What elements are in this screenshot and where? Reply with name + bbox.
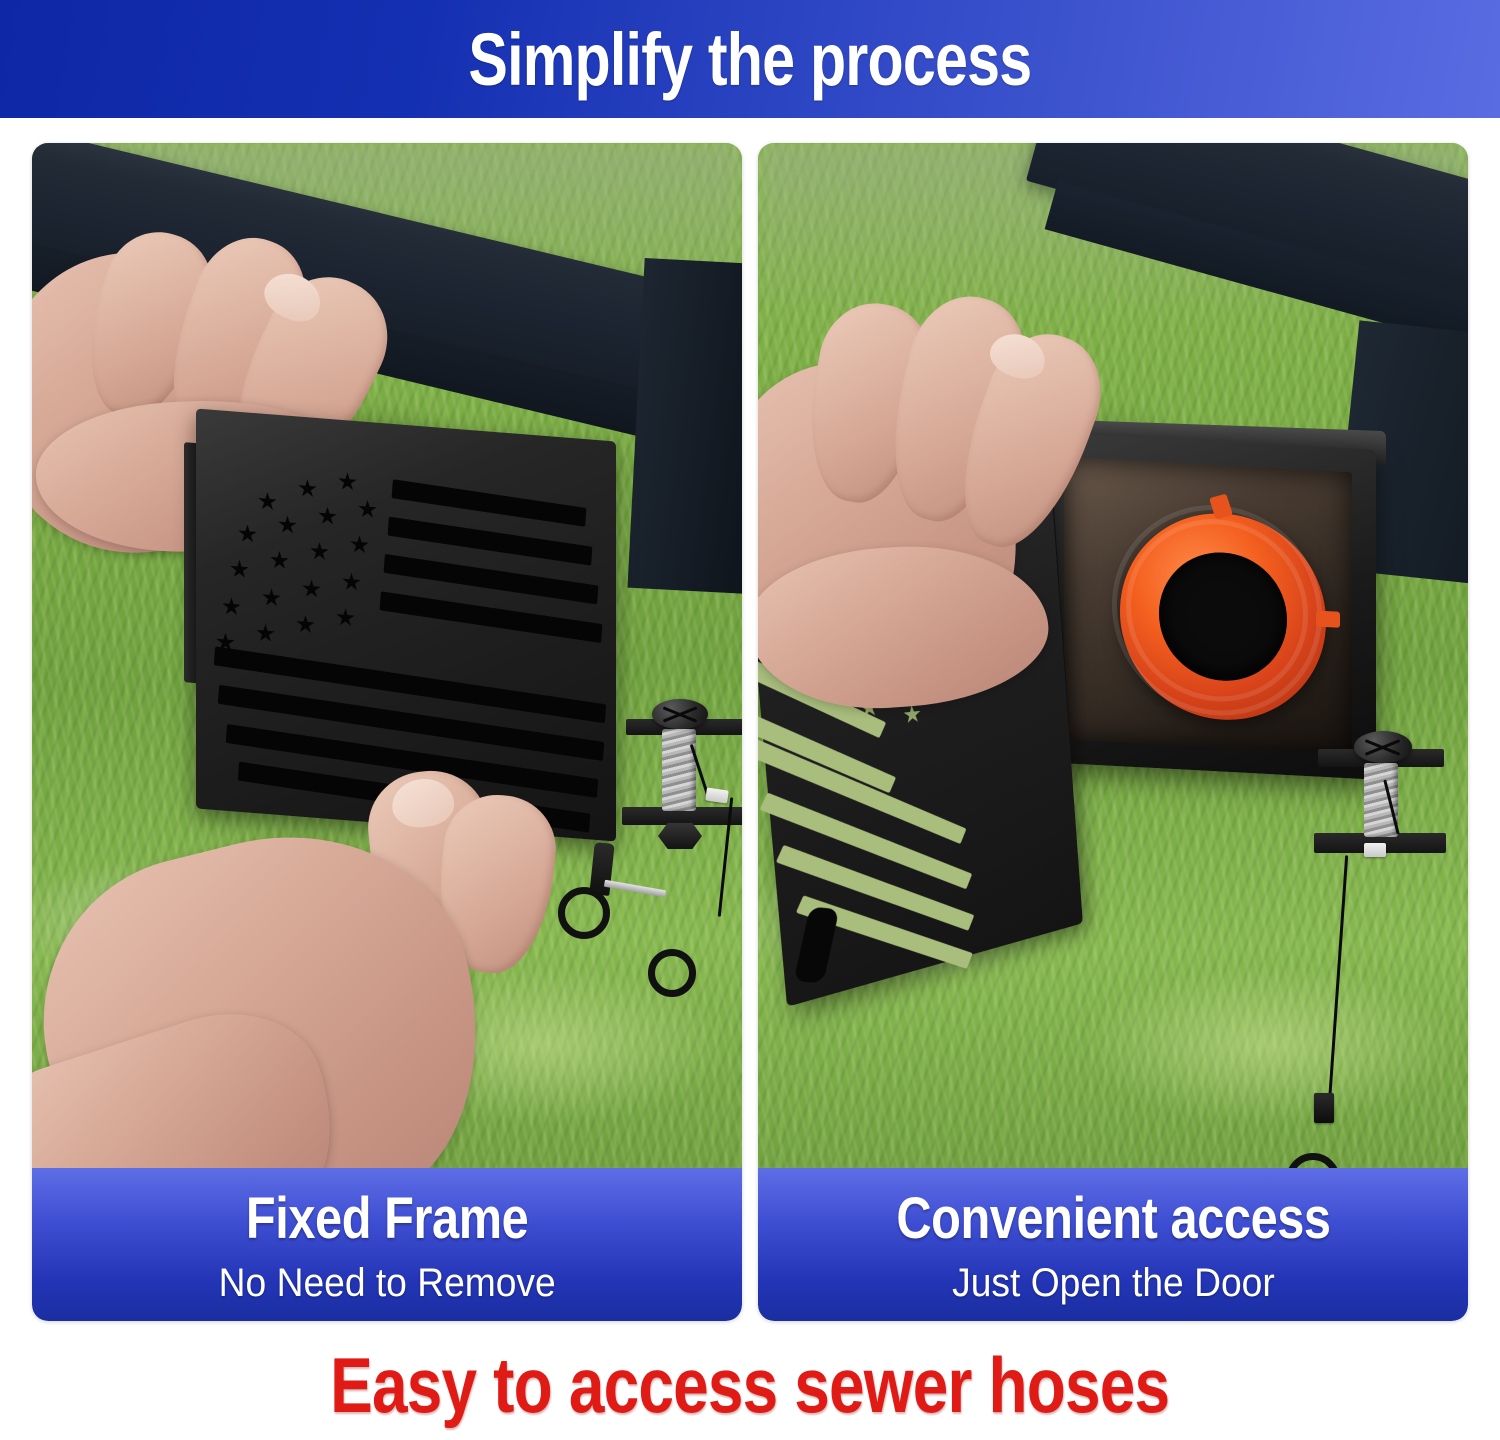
feature-panel-left: Fixed Frame No Need to Remove — [32, 143, 742, 1321]
bumper-box-interior — [1064, 457, 1352, 754]
footer-banner: Easy to access sewer hoses — [0, 1330, 1500, 1440]
panel-row: Fixed Frame No Need to Remove — [0, 118, 1500, 1323]
page-title: Simplify the process — [468, 17, 1031, 102]
caption-subtitle: Just Open the Door — [952, 1261, 1275, 1306]
caption-subtitle: No Need to Remove — [218, 1261, 555, 1306]
cable-ferrule — [1364, 843, 1386, 857]
caption-bar-right: Convenient access Just Open the Door — [758, 1168, 1468, 1321]
header-banner: Simplify the process — [0, 0, 1500, 118]
caption-bar-left: Fixed Frame No Need to Remove — [32, 1168, 742, 1321]
cable-stop — [1314, 1093, 1334, 1123]
carabiner-loop — [648, 949, 696, 997]
bumper-box — [1046, 432, 1376, 779]
caption-title: Convenient access — [896, 1189, 1330, 1250]
door-handle-slot — [793, 906, 839, 983]
hose-tab — [1316, 611, 1340, 628]
steel-beam-post — [627, 258, 742, 594]
screw-shaft — [1364, 763, 1398, 837]
caption-title: Fixed Frame — [246, 1189, 528, 1250]
thumb-screw-head — [652, 699, 708, 729]
product-photo-fixed-frame — [32, 143, 742, 1168]
sewer-hose — [1120, 508, 1326, 725]
infographic-page: Simplify the process — [0, 0, 1500, 1440]
feature-panel-right: Convenient access Just Open the Door — [758, 143, 1468, 1321]
screw-shaft — [662, 729, 696, 811]
footer-tagline: Easy to access sewer hoses — [330, 1340, 1169, 1431]
thumb-screw-head — [1354, 731, 1412, 763]
product-photo-convenient-access — [758, 143, 1468, 1168]
